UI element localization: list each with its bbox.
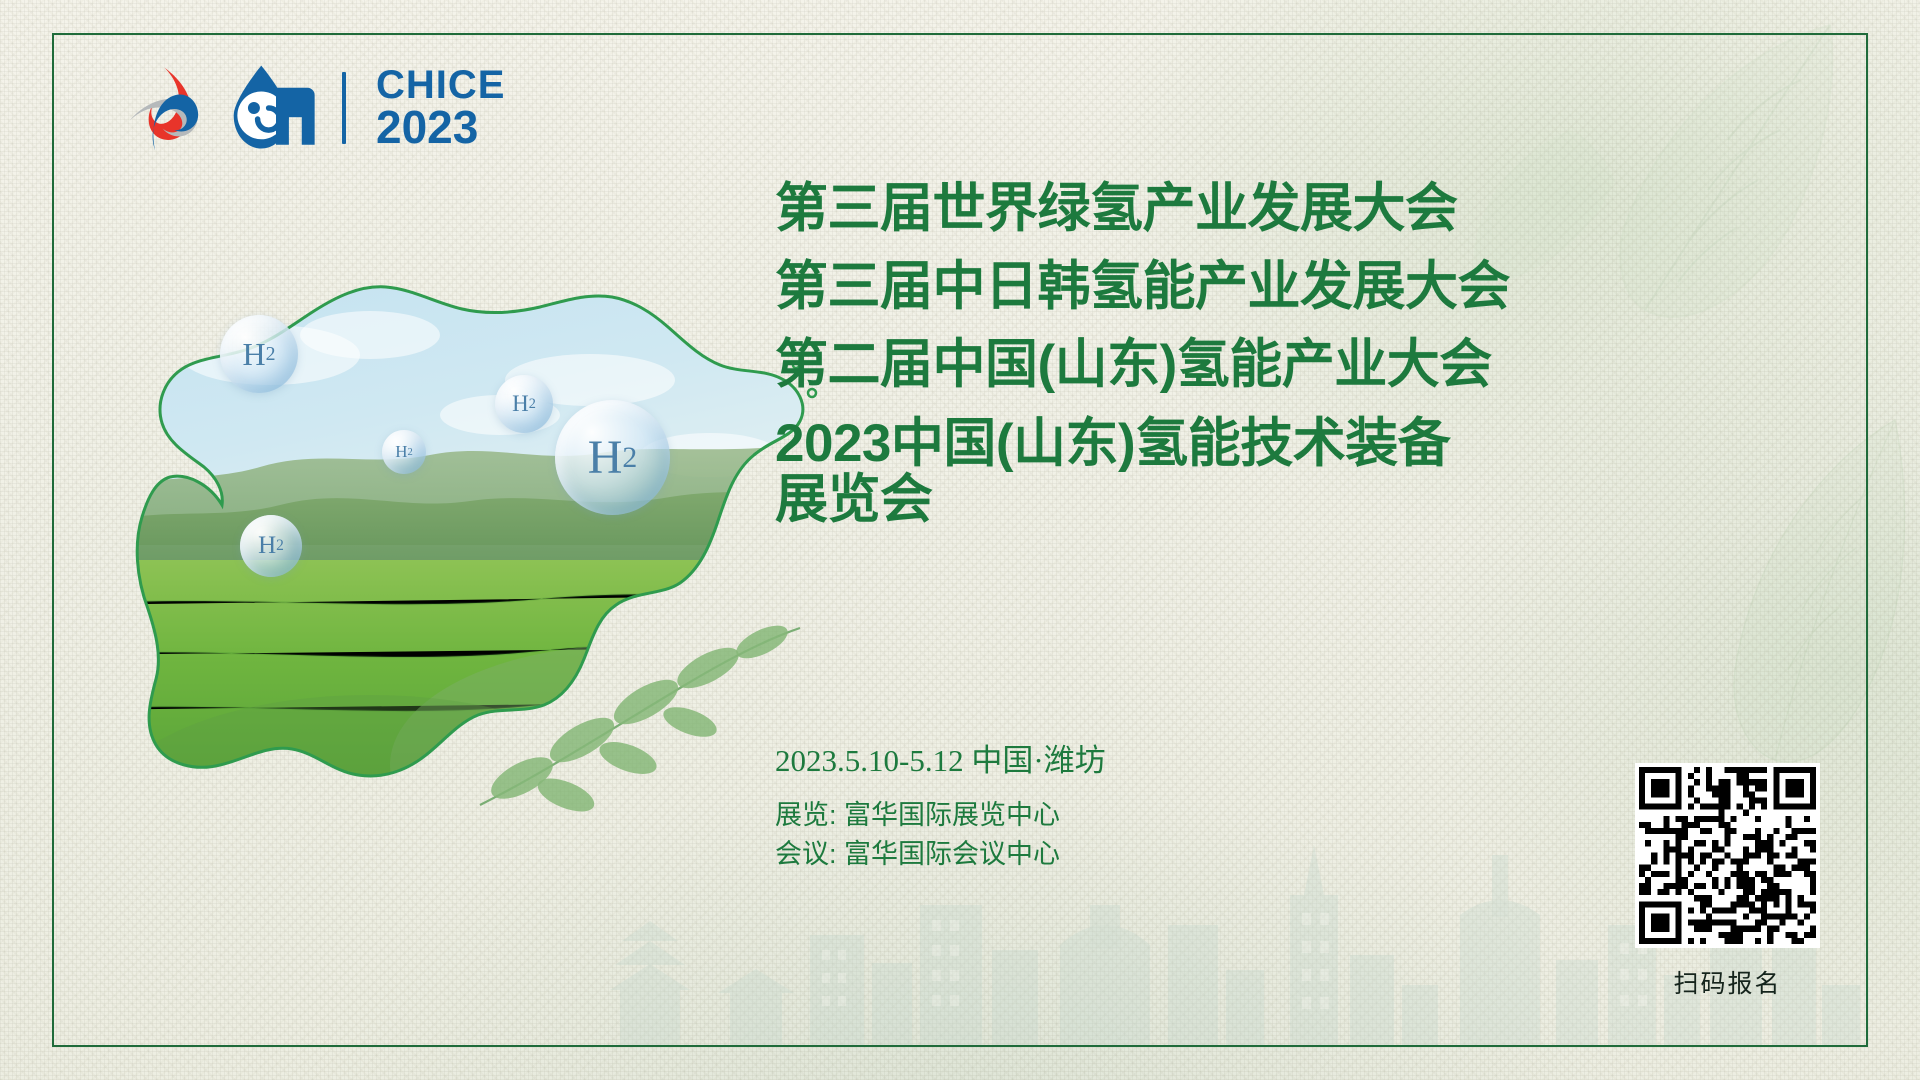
title-line-1: 第三届世界绿氢产业发展大会 [775,182,1495,235]
poster-canvas: CHICE 2023 [0,0,1920,1080]
hydrogen-bubble: H2 [240,515,302,577]
shandong-province-map: H2 H2 H2 H2 H2 [70,205,830,845]
registration-qr-block[interactable]: 扫码报名 [1635,763,1820,1000]
title-line-2: 第三届中日韩氢能产业发展大会 [775,260,1495,313]
event-date-location: 2023.5.10-5.12 中国·潍坊 [775,735,1106,780]
flame-emblem-icon [122,62,214,154]
title-line-4: 2023中国(山东)氢能技术装备展览会 [775,416,1495,528]
title-line-3: 第二届中国(山东)氢能产业大会 [775,338,1495,391]
brand-name-line1: CHICE [376,66,505,105]
event-info-block: 2023.5.10-5.12 中国·潍坊 展览: 富华国际展览中心 会议: 富华… [775,735,1106,874]
brand-wordmark: CHICE 2023 [376,66,505,150]
brand-name-line2: 2023 [376,105,505,150]
venue-exhibition: 展览: 富华国际展览中心 [775,796,1106,835]
hydrogen-bubble: H2 [495,375,553,433]
logo-divider [342,72,346,144]
conference-title-group: 第三届世界绿氢产业发展大会 第三届中日韩氢能产业发展大会 第二届中国(山东)氢能… [775,182,1495,528]
qr-code-icon[interactable] [1635,763,1820,948]
brand-logo: CHICE 2023 [122,62,505,154]
hydrogen-bubble: H2 [382,430,426,474]
hydrogen-bubble: H2 [220,315,298,393]
hydrogen-droplet-icon [230,62,322,154]
hydrogen-bubble: H2 [555,400,670,515]
venue-conference: 会议: 富华国际会议中心 [775,835,1106,874]
qr-caption: 扫码报名 [1635,964,1820,1000]
